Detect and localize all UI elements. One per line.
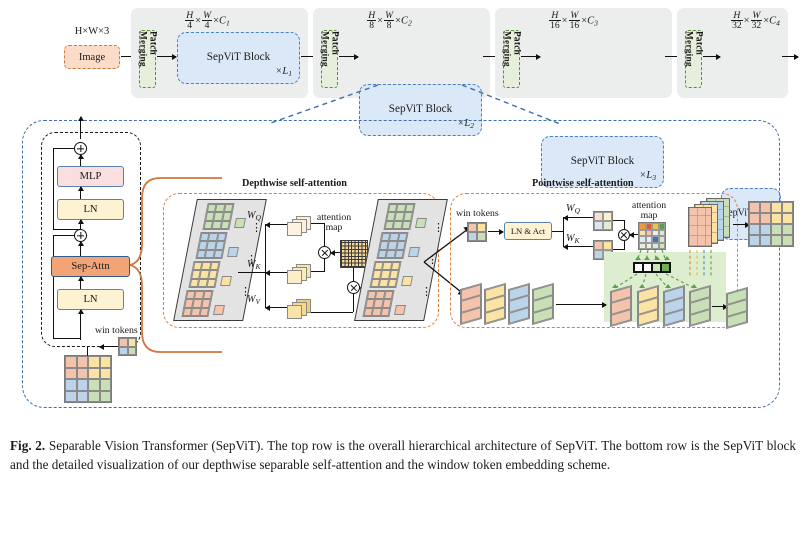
pw-output-cube (686, 198, 732, 248)
figure-label: Fig. 2. (10, 438, 45, 453)
pw-slab-out-green (689, 285, 711, 327)
pw-arrow-cube-to-output (733, 224, 749, 225)
pw-arrow-to-fused-slab (712, 306, 727, 307)
pw-output-feature-map (748, 201, 794, 247)
figure-caption-text: Separable Vision Transformer (SepViT). T… (10, 438, 796, 472)
pw-arrow-slabs-to-weighted (556, 304, 606, 305)
pw-slab-in-blue (508, 283, 530, 325)
pw-slab-out-salmon (610, 285, 632, 327)
pw-slab-in-yellow (484, 283, 506, 325)
pw-slab-out-yellow (637, 285, 659, 327)
pw-slab-in-green (532, 283, 554, 325)
figure-root: H×W×3 Image Patch Merging H4×W4×C1 SepVi… (0, 0, 803, 543)
pw-slab-out-blue (663, 285, 685, 327)
pw-slab-in-salmon (460, 283, 482, 325)
pw-slab-fused (726, 287, 748, 329)
figure-caption: Fig. 2. Separable Vision Transformer (Se… (10, 437, 796, 474)
